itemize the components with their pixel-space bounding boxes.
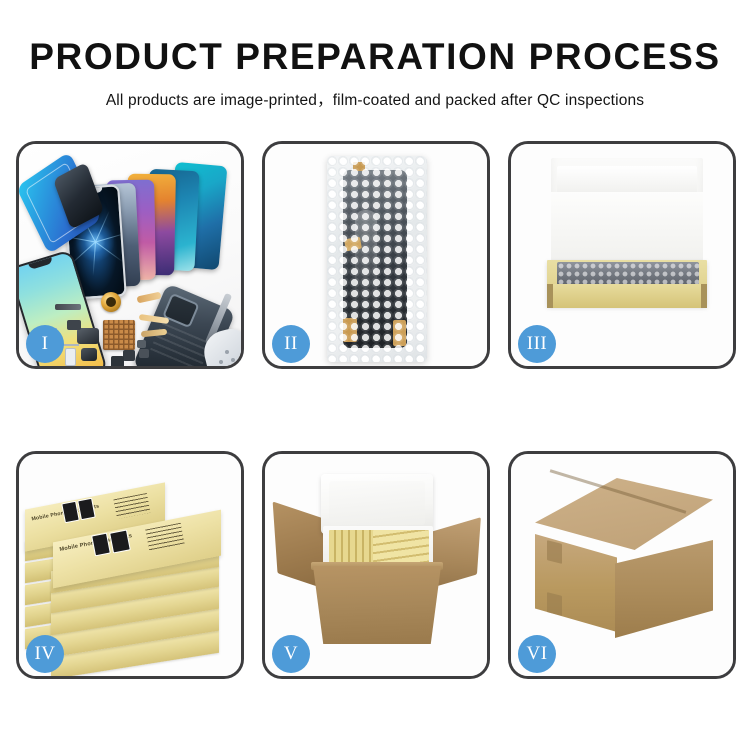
chip-part	[137, 340, 146, 348]
camera-module-part	[77, 328, 99, 344]
box-edge-left	[547, 284, 553, 308]
step-number-badge-1: I	[26, 325, 64, 363]
carton-tape-mark	[547, 540, 562, 564]
box-edge-right	[701, 284, 707, 308]
carton-body	[313, 566, 441, 644]
foam-lid	[551, 158, 703, 274]
chip-part	[111, 356, 124, 366]
process-steps-grid: I II III	[16, 141, 736, 679]
page-title: PRODUCT PREPARATION PROCESS	[0, 38, 750, 77]
box-window-phone	[109, 529, 131, 553]
screw-part	[231, 358, 235, 362]
bubble-texture	[327, 156, 427, 362]
step-number-badge-6: VI	[518, 635, 556, 673]
chip-part	[139, 349, 149, 358]
step-panel-5[interactable]: V	[262, 451, 490, 679]
page-subtitle: All products are image-printed，film-coat…	[0, 88, 750, 110]
step-panel-4[interactable]: Mobile Phone Spare Parts Mobile Phone Sp…	[16, 451, 244, 679]
copper-mesh-part	[103, 320, 135, 350]
earpiece-part	[55, 304, 81, 310]
speaker-coil-part	[101, 292, 121, 312]
screw-part	[219, 360, 223, 364]
step-panel-6[interactable]: VI	[508, 451, 736, 679]
page-header: PRODUCT PREPARATION PROCESS All products…	[0, 0, 750, 110]
step-number-badge-3: III	[518, 325, 556, 363]
step-panel-2[interactable]: II	[262, 141, 490, 369]
step-panel-3[interactable]: III	[508, 141, 736, 369]
step-number-badge-4: IV	[26, 635, 64, 673]
button-part	[65, 348, 76, 366]
box-stack: Mobile Phone Spare Parts Mobile Phone Sp…	[23, 472, 241, 666]
foam-lid-open	[321, 474, 433, 534]
chip-part	[123, 350, 135, 361]
step-number-badge-5: V	[272, 635, 310, 673]
camera-module-part	[81, 348, 97, 361]
carton-side-face	[615, 540, 713, 638]
screw-part	[225, 350, 229, 354]
carton-tape-mark	[547, 592, 562, 616]
carton-top-face	[535, 478, 713, 550]
step-number-badge-2: II	[272, 325, 310, 363]
bubble-wrap-bag	[327, 156, 427, 362]
inner-box-front	[547, 284, 707, 308]
packed-yellow-boxes	[373, 530, 429, 564]
step-panel-1[interactable]: I	[16, 141, 244, 369]
